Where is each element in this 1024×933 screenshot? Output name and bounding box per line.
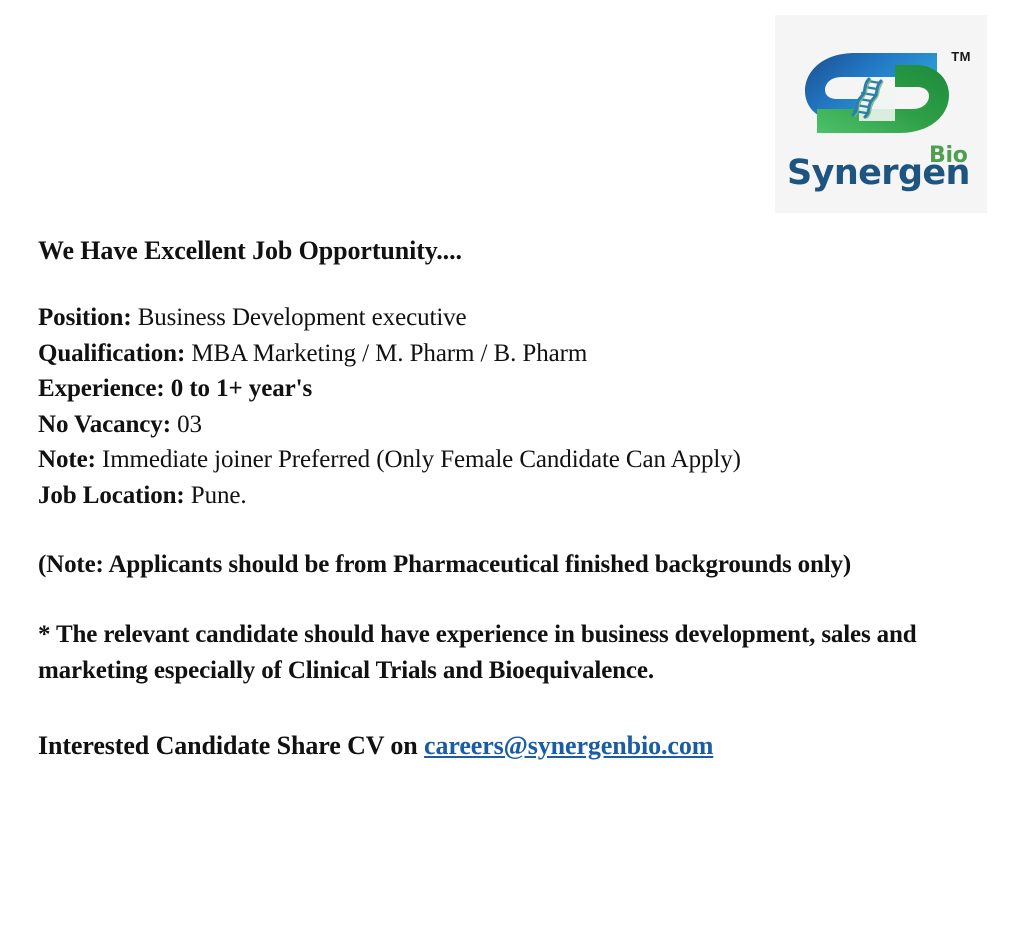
dna-helix-s-swirl-icon (797, 47, 957, 139)
detail-row-no-vacancy: No Vacancy: 03 (38, 407, 993, 443)
detail-label: Position: (38, 304, 132, 331)
email-link[interactable]: careers@synergenbio.com (424, 731, 713, 760)
spacer (38, 513, 993, 547)
detail-label: Qualification: (38, 340, 185, 367)
detail-label: Job Location: (38, 482, 185, 509)
logo-wordmark: Synergen Bio (787, 137, 977, 199)
call-to-action: Interested Candidate Share CV on careers… (38, 729, 993, 763)
detail-row-note: Note: Immediate joiner Preferred (Only F… (38, 442, 993, 478)
trademark-icon: TM (951, 49, 971, 64)
headline: We Have Excellent Job Opportunity.... (38, 236, 993, 266)
spacer (38, 689, 993, 729)
detail-label: Note: (38, 446, 96, 473)
spacer (38, 583, 993, 617)
detail-label: No Vacancy: (38, 411, 171, 438)
detail-row-job-location: Job Location: Pune. (38, 478, 993, 514)
job-advert-document: { "logo": { "wordmark_main": "Synergen",… (0, 0, 1024, 933)
detail-row-position: Position: Business Development executive (38, 300, 993, 336)
detail-value: Pune. (185, 482, 247, 509)
note-paragraph: (Note: Applicants should be from Pharmac… (38, 547, 988, 583)
detail-value: Immediate joiner Preferred (Only Female … (96, 446, 741, 473)
detail-value: Business Development executive (132, 304, 467, 331)
detail-value: MBA Marketing / M. Pharm / B. Pharm (185, 340, 587, 367)
spacer (38, 266, 993, 300)
cta-prefix: Interested Candidate Share CV on (38, 731, 424, 760)
detail-label: Experience: 0 to 1+ year's (38, 375, 312, 402)
detail-value: 03 (171, 411, 202, 438)
document-body: We Have Excellent Job Opportunity.... Po… (38, 236, 993, 763)
company-logo-panel: TM Synergen Bio (775, 15, 987, 213)
detail-row-qualification: Qualification: MBA Marketing / M. Pharm … (38, 336, 993, 372)
requirement-paragraph: * The relevant candidate should have exp… (38, 617, 918, 689)
logo-wordmark-sub: Bio (929, 143, 968, 168)
job-details-list: Position: Business Development executive… (38, 300, 993, 513)
detail-row-experience: Experience: 0 to 1+ year's (38, 371, 993, 407)
